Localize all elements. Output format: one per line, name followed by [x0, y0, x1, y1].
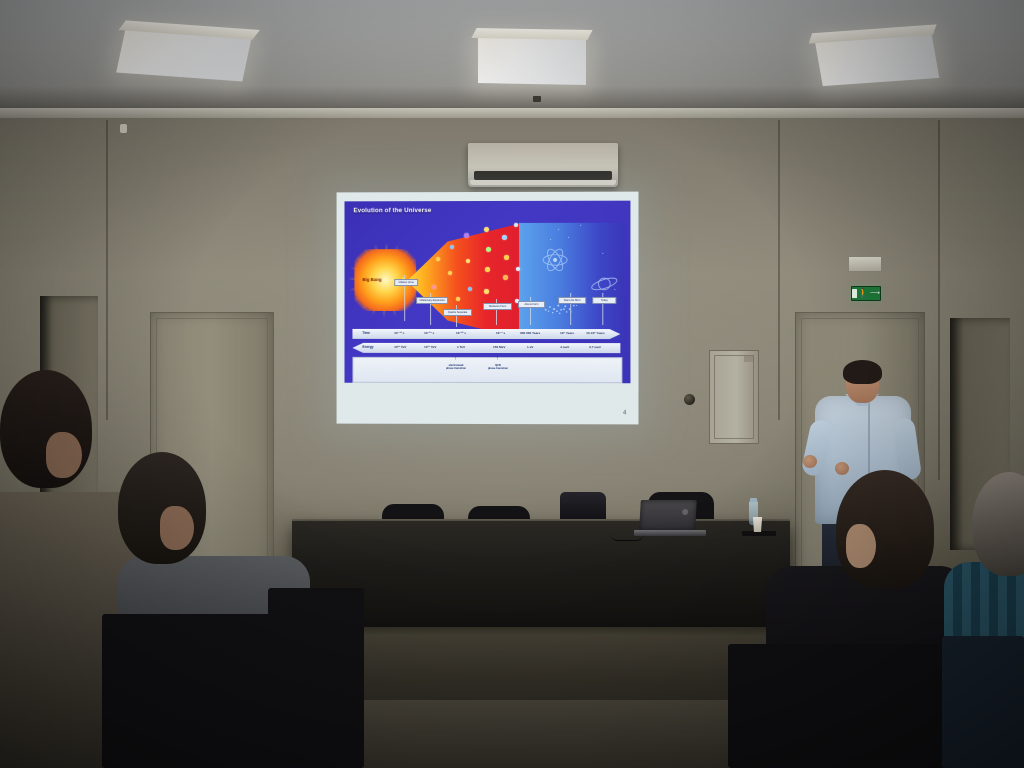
particle	[468, 287, 472, 291]
lecture-room-scene: 🚶 ⟶ Evolution of the Universe Big Bang	[0, 0, 1024, 768]
wall-seam	[106, 120, 108, 420]
particle	[485, 267, 489, 272]
audience-front-left-head	[0, 370, 92, 488]
projection-screen: Evolution of the Universe Big Bang	[337, 192, 639, 425]
callout-today: Today	[592, 297, 616, 304]
callout-stars-are-born: Stars Are Born	[558, 297, 586, 304]
wall-fitting	[120, 124, 127, 133]
callout-inflationary-expansion: Inflationary Expansion	[416, 297, 448, 304]
particle	[486, 247, 491, 252]
chair-front-right[interactable]	[728, 644, 958, 768]
ceiling-light-right	[815, 32, 940, 86]
electrical-panel-label	[744, 356, 753, 362]
audience-second-left-head	[118, 452, 206, 564]
energy-tick: 150 MeV	[493, 345, 505, 349]
particle	[484, 227, 489, 232]
energy-tick: 10¹⁹ TeV	[394, 345, 406, 349]
particle	[436, 257, 440, 261]
wall-sensor-icon	[684, 394, 695, 405]
ceiling-light-lip	[471, 28, 592, 40]
ceiling-light-panel	[478, 35, 586, 85]
callout-nucleons-form: Nucleons Form	[483, 303, 512, 310]
presenter-hair	[843, 360, 882, 384]
energy-tick: 0.7 meV	[589, 345, 601, 349]
phase-qcd: QCD phase transition	[478, 364, 518, 370]
air-conditioner-unit	[468, 143, 618, 187]
wall-notice-box	[848, 256, 882, 272]
exit-arrow-icon: ⟶	[870, 290, 880, 297]
electrical-panel-inner	[714, 355, 754, 439]
particle	[503, 275, 508, 280]
laptop-base[interactable]	[634, 530, 706, 536]
electrical-panel[interactable]	[709, 350, 759, 444]
quark-epoch-cone	[402, 223, 522, 339]
time-axis-label: Time	[362, 331, 370, 335]
particle	[466, 259, 470, 263]
laptop-screen[interactable]	[639, 500, 697, 531]
particle	[456, 297, 459, 300]
particle	[464, 233, 468, 238]
time-tick: 10⁻⁴ s	[496, 331, 505, 335]
time-tick: 15·10⁹ Years	[586, 331, 605, 335]
planet-icon	[588, 273, 620, 295]
phase-arrow-icon: ↑	[454, 357, 456, 362]
energy-tick: 4 meV	[560, 345, 569, 349]
particle	[432, 285, 435, 288]
running-man-icon: 🚶	[858, 289, 869, 298]
laptop-logo-icon	[682, 509, 688, 515]
phase-arrow-icon: ↑	[496, 357, 499, 362]
energy-axis-label: Energy	[362, 345, 373, 349]
time-axis-row	[352, 329, 620, 339]
big-bang-label: Big Bang	[362, 277, 381, 282]
time-tick: 10⁻⁴³ s	[394, 331, 404, 335]
phase-electroweak: electroweak phase transition	[436, 364, 476, 370]
atom-icon	[540, 245, 570, 275]
energy-tick: 1 TeV	[457, 345, 465, 349]
energy-tick: 1 eV	[527, 345, 533, 349]
emergency-exit-icon: 🚶 ⟶	[851, 286, 881, 301]
audience-second-left-face	[160, 506, 194, 550]
callout-inflation-zone: Inflation Zone	[394, 279, 418, 286]
front-desk	[292, 521, 790, 627]
chair-far-right[interactable]	[942, 636, 1024, 768]
particle	[448, 271, 452, 275]
particle	[502, 235, 507, 240]
particle	[504, 255, 509, 260]
bottle-cap	[750, 498, 757, 502]
presenter-right-hand	[835, 462, 849, 475]
wall-seam	[778, 120, 780, 420]
particle	[450, 245, 454, 249]
ceiling-sensor-icon	[533, 96, 541, 102]
ac-lip	[470, 180, 616, 185]
time-tick: 10⁻¹⁰ s	[456, 331, 466, 335]
callout-atoms-form: Atoms Form	[518, 301, 545, 308]
ceiling-light-center	[478, 35, 586, 85]
ceiling-light-left	[116, 28, 252, 82]
callout-quarks-separate: Quarks Separate	[443, 309, 472, 316]
exit-door-glyph	[852, 289, 857, 298]
wall-seam	[938, 120, 940, 480]
chair-front-left-back[interactable]	[268, 588, 364, 768]
particle	[514, 223, 518, 227]
bag[interactable]	[560, 492, 606, 522]
time-tick: 10⁻³⁴ s	[424, 331, 434, 335]
audience-front-left-face	[46, 432, 82, 478]
slide-evolution-of-the-universe: Evolution of the Universe Big Bang	[345, 201, 631, 384]
particle	[484, 289, 488, 294]
presenter-left-hand	[803, 455, 817, 468]
energy-axis-row	[352, 343, 620, 353]
ac-vent	[474, 171, 612, 180]
time-tick: 10⁹ Years	[560, 331, 574, 335]
time-tick: 300 000 Years	[520, 331, 540, 335]
slide-title: Evolution of the Universe	[353, 207, 431, 214]
power-cable	[610, 533, 644, 541]
particle	[516, 267, 520, 271]
slide-page-number: 4	[623, 410, 626, 416]
audience-front-right-face	[846, 524, 876, 568]
energy-tick: 10¹⁴ TeV	[424, 345, 436, 349]
